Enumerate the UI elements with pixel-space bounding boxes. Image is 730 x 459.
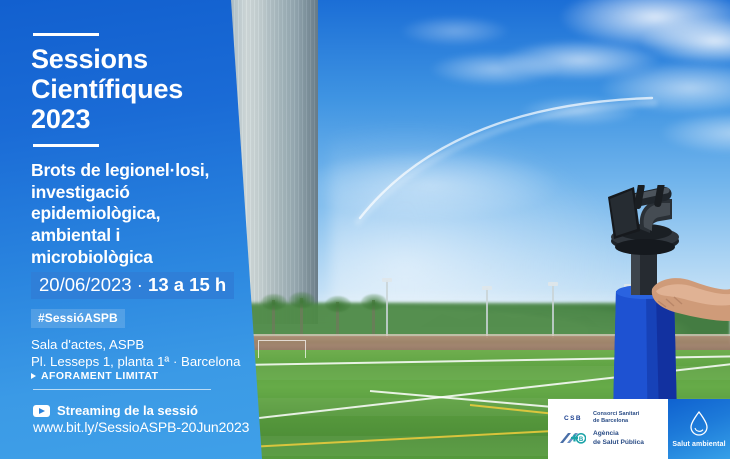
divider-top bbox=[33, 33, 99, 36]
poster: Sessions Científiques 2023 Brots de legi… bbox=[0, 0, 730, 459]
divider-middle bbox=[33, 144, 99, 147]
subtitle-line-1: Brots de legionel·losi, bbox=[31, 160, 231, 182]
floodlight-head bbox=[548, 282, 558, 286]
aspb-line-2: de Salut Pública bbox=[593, 439, 644, 446]
palm-crown bbox=[261, 294, 287, 310]
cloud bbox=[400, 16, 510, 46]
session-date: 20/06/2023 · bbox=[39, 274, 148, 295]
floodlight-pole bbox=[552, 284, 554, 338]
palm-crown bbox=[361, 294, 387, 310]
aspb-line-1: Agència bbox=[593, 430, 619, 437]
session-time: 13 a 15 h bbox=[148, 274, 226, 295]
subtitle-line-5: microbiològica bbox=[31, 247, 231, 269]
divider-bottom bbox=[33, 389, 211, 390]
palm-crown bbox=[289, 292, 315, 308]
date-time-badge: 20/06/2023 · 13 a 15 h bbox=[31, 272, 234, 299]
venue-line-2: Pl. Lesseps 1, planta 1ª · Barcelona bbox=[31, 353, 246, 370]
goal-post bbox=[258, 340, 306, 358]
page-title: Sessions Científiques 2023 bbox=[31, 44, 241, 135]
svg-text:B: B bbox=[579, 437, 584, 443]
hashtag-badge: #SessióASPB bbox=[31, 309, 125, 328]
venue-info: Sala d'actes, ASPB Pl. Lesseps 1, planta… bbox=[31, 336, 246, 371]
capacity-notice-label: AFORAMENT LIMITAT bbox=[41, 370, 159, 382]
floodlight-pole bbox=[386, 280, 388, 338]
subtitle-line-2: investigació bbox=[31, 182, 231, 204]
institutional-logos: CSB Consorci Sanitari de Barcelona B bbox=[548, 399, 668, 459]
csb-line-2: de Barcelona bbox=[593, 418, 628, 424]
cloud bbox=[430, 52, 560, 86]
floodlight-head bbox=[482, 286, 492, 290]
title-line-2: Científiques bbox=[31, 74, 241, 104]
csb-text: Consorci Sanitari de Barcelona bbox=[593, 411, 639, 425]
streaming-url[interactable]: www.bit.ly/SessioASPB-20Jun2023 bbox=[33, 419, 249, 435]
subtitle-line-4: ambiental i bbox=[31, 225, 231, 247]
title-line-1: Sessions bbox=[31, 44, 241, 74]
floodlight-pole bbox=[486, 288, 488, 338]
session-subtitle: Brots de legionel·losi, investigació epi… bbox=[31, 160, 231, 268]
text-panel-content: Sessions Científiques 2023 Brots de legi… bbox=[0, 0, 252, 459]
floodlight-head bbox=[382, 278, 392, 282]
logo-block: CSB Consorci Sanitari de Barcelona B bbox=[548, 399, 730, 459]
streaming-row: Streaming de la sessió bbox=[33, 403, 198, 418]
triangle-bullet-icon bbox=[31, 373, 36, 379]
aspb-mark-icon: B bbox=[560, 432, 586, 445]
subtitle-line-3: epidemiològica, bbox=[31, 203, 231, 225]
aspb-logo: B Agència de Salut Pública bbox=[560, 430, 668, 446]
streaming-label: Streaming de la sessió bbox=[57, 403, 198, 418]
palm-crown bbox=[325, 296, 351, 312]
capacity-notice: AFORAMENT LIMITAT bbox=[31, 370, 159, 382]
csb-logo: CSB Consorci Sanitari de Barcelona bbox=[560, 411, 668, 425]
csb-line-1: Consorci Sanitari bbox=[593, 411, 639, 417]
title-line-3: 2023 bbox=[31, 104, 241, 134]
csb-mark-label: CSB bbox=[560, 415, 586, 422]
salut-ambiental-label: Salut ambiental bbox=[672, 441, 725, 448]
venue-line-1: Sala d'actes, ASPB bbox=[31, 336, 246, 353]
salut-ambiental-badge: Salut ambiental bbox=[668, 399, 730, 459]
play-triangle-icon bbox=[39, 408, 45, 414]
aspb-text: Agència de Salut Pública bbox=[593, 430, 644, 446]
play-button-icon[interactable] bbox=[33, 405, 50, 417]
water-drop-icon bbox=[688, 410, 710, 436]
